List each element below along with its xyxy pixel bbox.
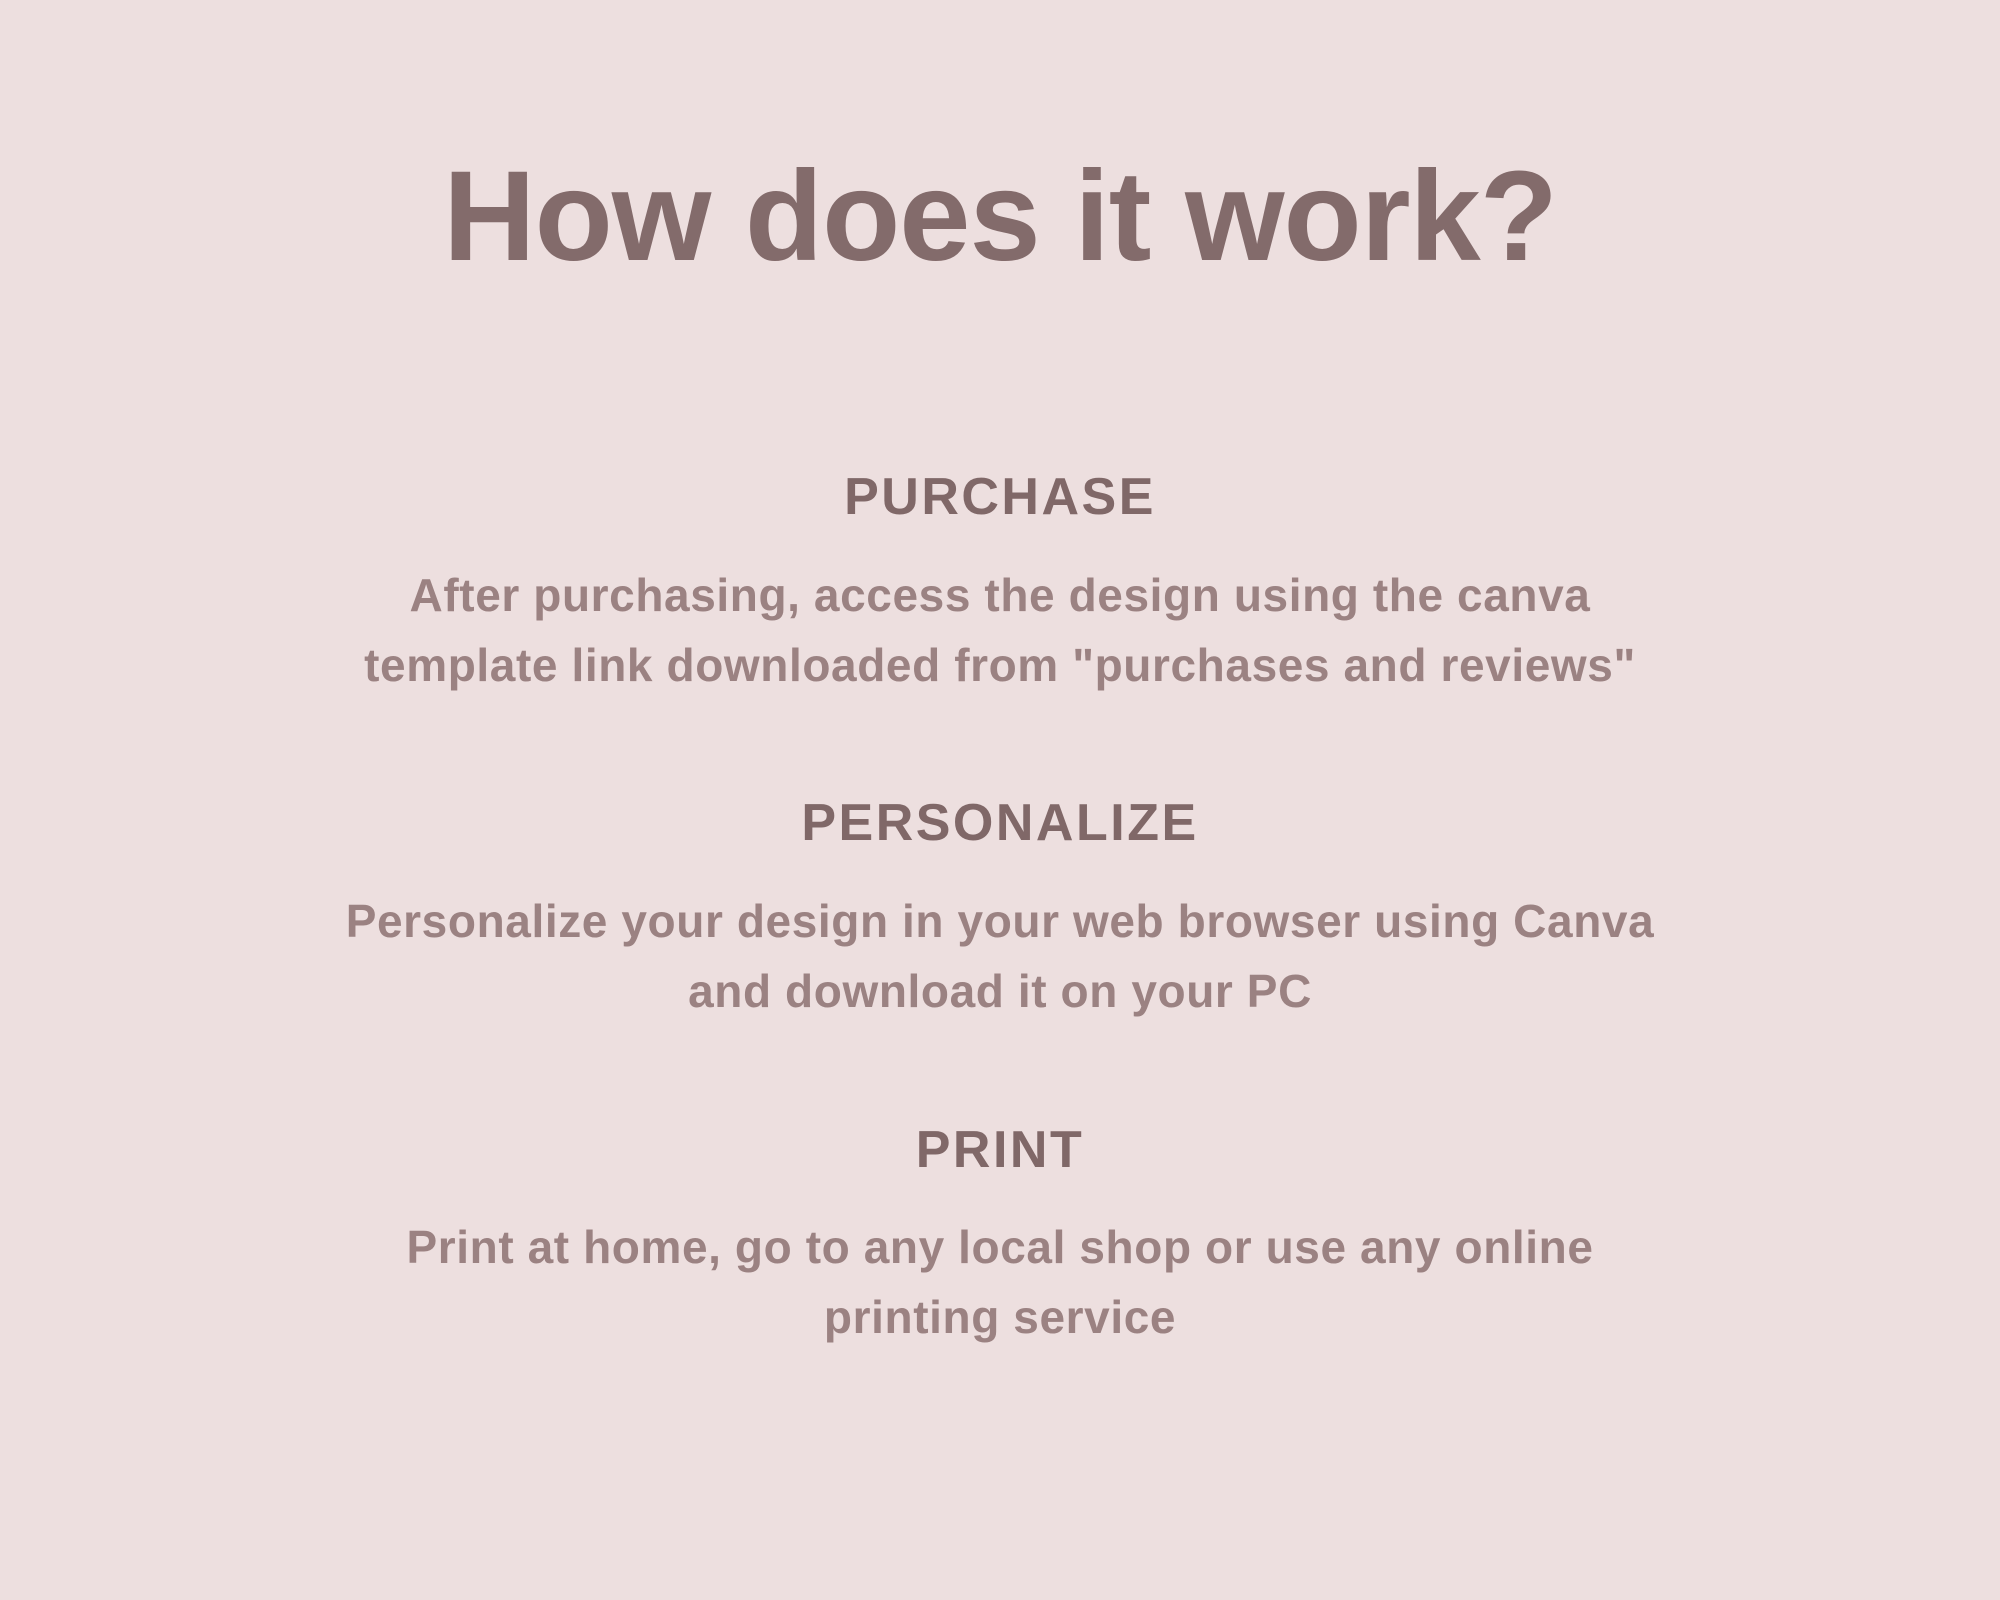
step-purchase: PURCHASE After purchasing, access the de…	[0, 470, 2000, 700]
step-print: PRINT Print at home, go to any local sho…	[0, 1123, 2000, 1353]
step-body-personalize: Personalize your design in your web brow…	[170, 887, 1830, 1027]
step-body-print: Print at home, go to any local shop or u…	[170, 1213, 1830, 1353]
step-heading-purchase: PURCHASE	[0, 470, 2000, 525]
step-body-line: template link downloaded from "purchases…	[170, 631, 1830, 701]
step-body-line: Print at home, go to any local shop or u…	[170, 1213, 1830, 1283]
step-personalize: PERSONALIZE Personalize your design in y…	[0, 796, 2000, 1026]
step-body-line: Personalize your design in your web brow…	[170, 887, 1830, 957]
step-body-line: and download it on your PC	[170, 957, 1830, 1027]
page-title: How does it work?	[0, 148, 2000, 286]
step-body-line: After purchasing, access the design usin…	[170, 561, 1830, 631]
step-body-purchase: After purchasing, access the design usin…	[170, 561, 1830, 701]
step-body-line: printing service	[170, 1283, 1830, 1353]
step-heading-print: PRINT	[0, 1123, 2000, 1178]
step-heading-personalize: PERSONALIZE	[0, 796, 2000, 851]
poster-canvas: How does it work? PURCHASE After purchas…	[0, 0, 2000, 1600]
steps-list: PURCHASE After purchasing, access the de…	[0, 470, 2000, 1353]
